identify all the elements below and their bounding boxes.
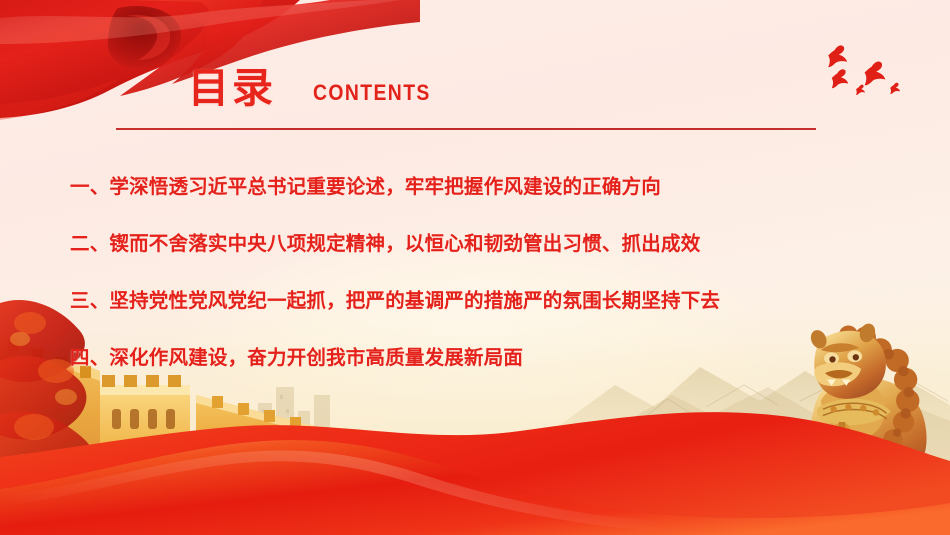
page-title: 目录	[188, 68, 276, 109]
table-of-contents: 一、学深悟透习近平总书记重要论述，牢牢把握作风建设的正确方向 二、锲而不舍落实中…	[0, 158, 950, 386]
red-wave-banner	[0, 365, 950, 535]
presentation-slide: 目录 CONTENTS 一、学深悟透习近平总书记重要论述，牢牢把握作风建设的正确…	[0, 0, 950, 535]
dove-icon	[828, 45, 847, 67]
toc-item-2[interactable]: 二、锲而不舍落实中央八项规定精神，以恒心和韧劲管出习惯、抓出成效	[0, 215, 950, 272]
page-title-english: CONTENTS	[313, 82, 431, 104]
toc-item-3[interactable]: 三、坚持党性党风党纪一起抓，把严的基调严的措施严的氛围长期坚持下去	[0, 272, 950, 329]
slide-header: 目录 CONTENTS	[0, 70, 950, 132]
title-divider	[116, 128, 816, 130]
toc-item-4[interactable]: 四、深化作风建设，奋力开创我市高质量发展新局面	[0, 329, 950, 386]
toc-item-1[interactable]: 一、学深悟透习近平总书记重要论述，牢牢把握作风建设的正确方向	[0, 158, 950, 215]
